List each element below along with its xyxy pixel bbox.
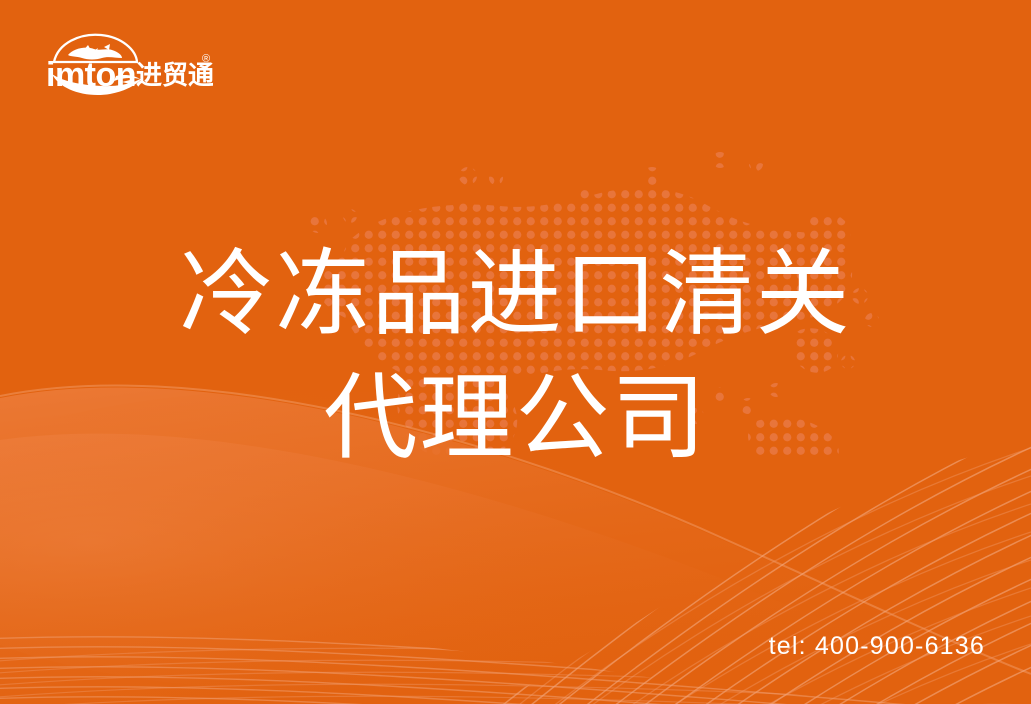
logo-registered-icon: ® (202, 53, 210, 65)
logo-wordmark: imton (46, 56, 136, 94)
page-title-line-1: 冷冻品进口清关 (0, 232, 1031, 356)
promo-banner: imton 进贸通 ® 冷冻品进口清关 代理公司 tel: 400-900-61… (0, 0, 1031, 704)
imton-logo[interactable]: imton 进贸通 ® (38, 28, 213, 100)
page-title: 冷冻品进口清关 代理公司 (0, 232, 1031, 480)
page-title-line-2: 代理公司 (0, 356, 1031, 480)
contact-phone[interactable]: tel: 400-900-6136 (769, 632, 985, 661)
